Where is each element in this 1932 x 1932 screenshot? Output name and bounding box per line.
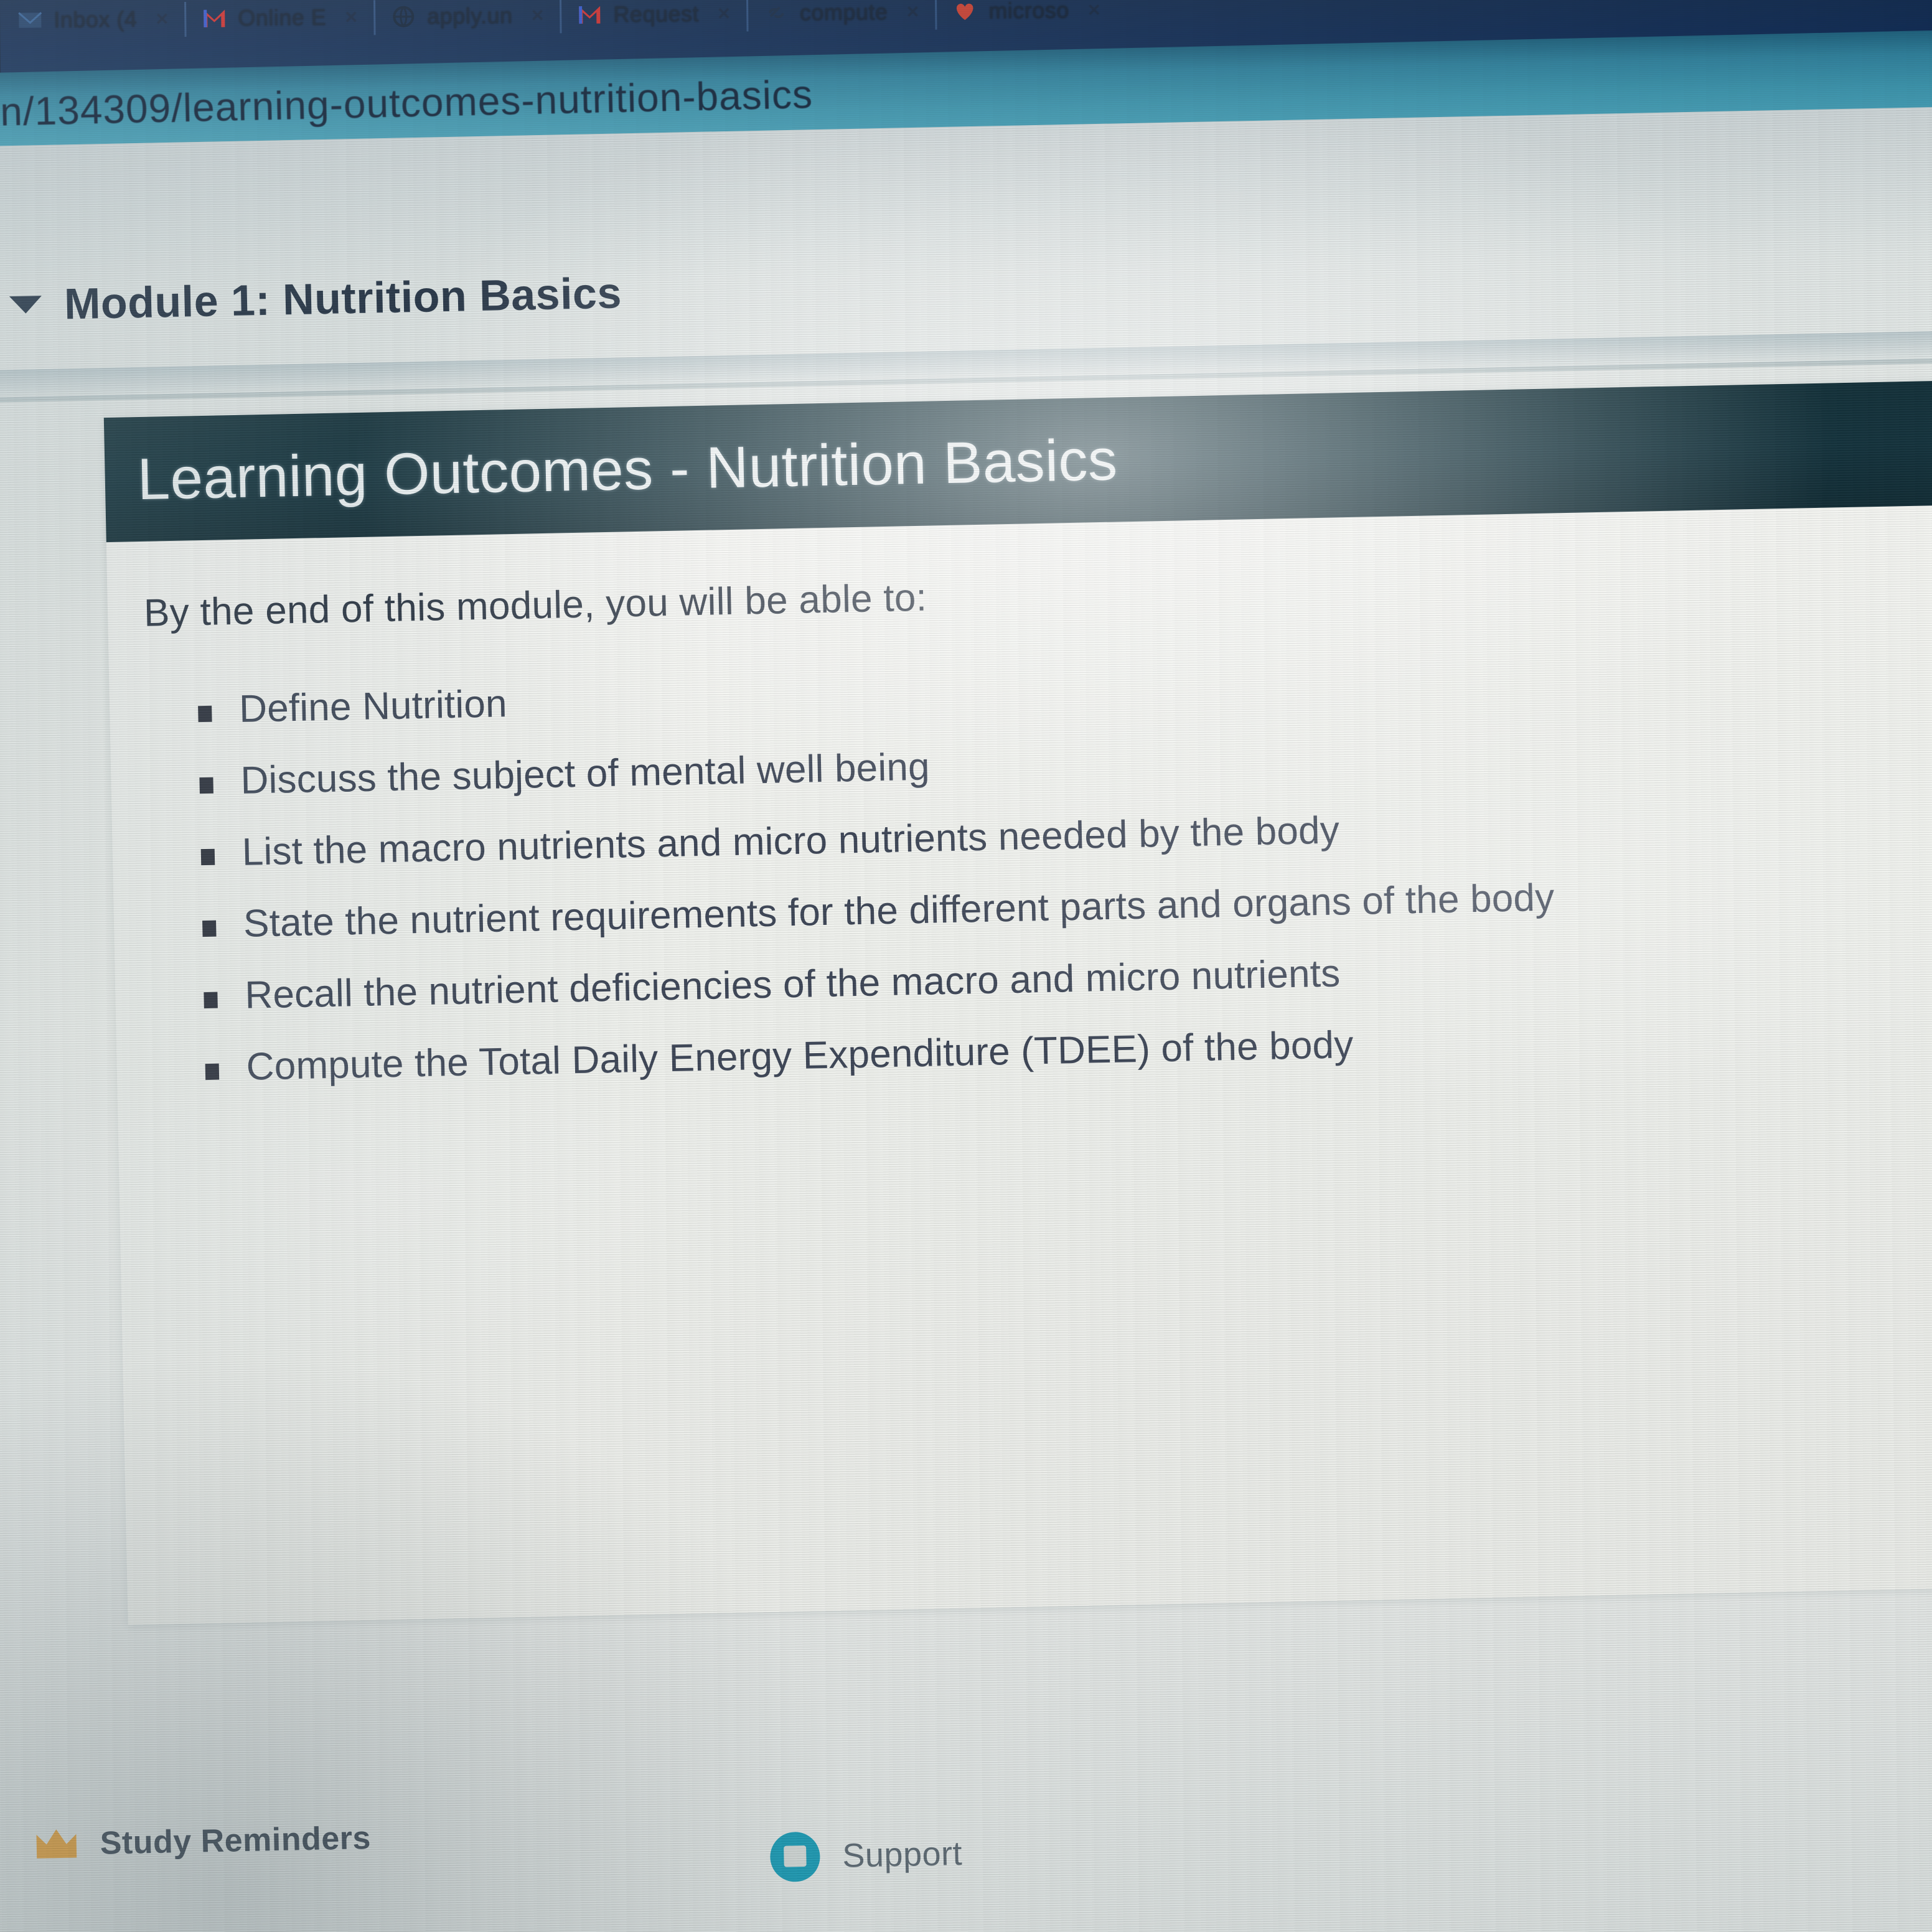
- module-accordion-header[interactable]: Module 1: Nutrition Basics: [9, 268, 622, 330]
- square-bullet-icon: [204, 992, 218, 1008]
- outcomes-list: Define NutritionDiscuss the subject of m…: [198, 654, 1932, 1120]
- browser-tab-label: compute: [800, 0, 888, 26]
- browser-tab-5[interactable]: compute×: [746, 0, 935, 41]
- crown-icon: [34, 1826, 79, 1862]
- heart-icon: [951, 0, 978, 25]
- browser-tab-label: apply.un: [427, 2, 513, 29]
- learning-outcomes-card: Learning Outcomes - Nutrition Basics By …: [104, 379, 1932, 1625]
- outcome-text: List the macro nutrients and micro nutri…: [241, 810, 1339, 873]
- browser-tab-2[interactable]: Online E×: [184, 0, 374, 47]
- support-chat-icon: [769, 1830, 822, 1883]
- study-reminders-label: Study Reminders: [100, 1819, 371, 1862]
- browser-tab-label: Online E: [238, 4, 326, 31]
- link-icon: [762, 0, 790, 27]
- support-label: Support: [842, 1834, 963, 1875]
- outcome-text: Recall the nutrient deficiencies of the …: [245, 954, 1341, 1016]
- browser-tab-label: Request: [613, 1, 699, 27]
- square-bullet-icon: [199, 777, 213, 794]
- close-icon[interactable]: ×: [345, 5, 357, 29]
- close-icon[interactable]: ×: [1088, 0, 1100, 22]
- card-banner: Learning Outcomes - Nutrition Basics: [104, 379, 1932, 542]
- browser-tab-1[interactable]: Inbox (4×: [0, 0, 185, 49]
- browser-tab-label: microso: [988, 0, 1069, 24]
- gmail-icon: [576, 1, 603, 29]
- browser-tab-4[interactable]: Request×: [560, 0, 746, 43]
- page-title: Module 1: Nutrition Basics: [63, 268, 622, 329]
- outcome-item: Discuss the subject of mental well being: [199, 726, 1932, 802]
- monitor-photo: Inbox (4×Online E×apply.un×Request×compu…: [0, 0, 1932, 1932]
- outcome-text: Compute the Total Daily Energy Expenditu…: [246, 1025, 1354, 1088]
- square-bullet-icon: [205, 1064, 220, 1080]
- square-bullet-icon: [198, 706, 212, 722]
- mail-icon: [16, 6, 44, 34]
- browser-tab-3[interactable]: apply.un×: [373, 0, 560, 45]
- close-icon[interactable]: ×: [906, 0, 919, 24]
- browser-tab-6[interactable]: microso×: [935, 0, 1117, 40]
- outcome-item: Compute the Total Daily Energy Expenditu…: [205, 1012, 1932, 1088]
- support-button[interactable]: Support: [769, 1827, 963, 1883]
- close-icon[interactable]: ×: [156, 7, 168, 31]
- outcome-text: State the nutrient requirements for the …: [243, 878, 1555, 944]
- study-reminders-button[interactable]: Study Reminders: [34, 1819, 371, 1864]
- outcome-item: List the macro nutrients and micro nutri…: [200, 797, 1932, 873]
- outcome-item: State the nutrient requirements for the …: [202, 869, 1932, 945]
- lead-text: By the end of this module, you will be a…: [143, 576, 927, 635]
- browser-tab-label: Inbox (4: [54, 6, 137, 33]
- square-bullet-icon: [202, 921, 217, 937]
- page-body: Module 1: Nutrition Basics Learning Outc…: [0, 105, 1932, 1932]
- close-icon[interactable]: ×: [718, 1, 730, 26]
- outcome-item: Recall the nutrient deficiencies of the …: [204, 940, 1932, 1016]
- square-bullet-icon: [201, 849, 215, 865]
- close-icon[interactable]: ×: [531, 3, 543, 27]
- banner-title: Learning Outcomes - Nutrition Basics: [105, 426, 1118, 513]
- outcome-item: Define Nutrition: [198, 654, 1932, 730]
- outcome-text: Define Nutrition: [239, 683, 508, 729]
- globe-icon: [390, 3, 417, 30]
- gmail-icon: [200, 4, 228, 32]
- outcome-text: Discuss the subject of mental well being: [240, 747, 930, 801]
- chevron-down-icon[interactable]: [9, 296, 42, 314]
- bottom-utility-bar: Study Reminders Support: [0, 1761, 1932, 1932]
- url-text: arn/134309/learning-outcomes-nutrition-b…: [0, 71, 814, 136]
